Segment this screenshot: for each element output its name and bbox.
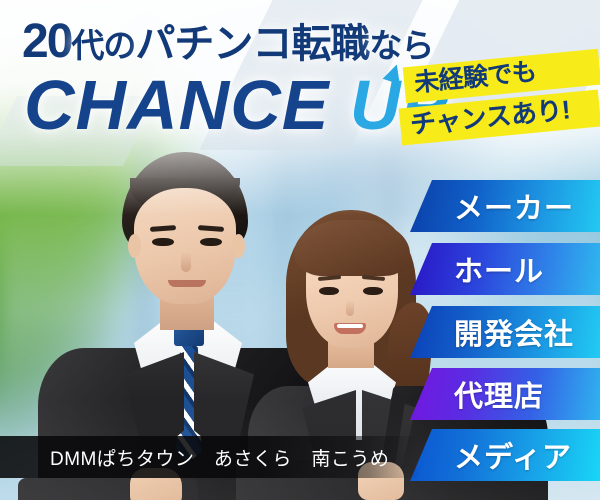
credit-text: DMMぱちタウン あさくら 南こうめ [50,444,389,471]
category-label-agency: 代理店 [454,373,544,415]
category-button-development-company[interactable]: 開発会社 [410,306,600,358]
recruitment-banner[interactable]: 20代のパチンコ転職なら CHANCE UP 未経験でも チャンスあり! メーカ… [0,0,600,500]
category-button-maker[interactable]: メーカー [410,180,600,232]
category-button-media[interactable]: メディア [410,429,600,481]
category-label-development-company: 開発会社 [454,311,574,353]
category-button-hall[interactable]: ホール [410,243,600,295]
credit-strip: DMMぱちタウン あさくら 南こうめ [0,436,420,478]
category-label-hall: ホール [454,248,544,290]
category-label-media: メディア [454,434,572,476]
category-label-maker: メーカー [454,185,574,227]
category-button-list: メーカー ホール 開発会社 代理店 メディア [0,0,600,500]
category-button-agency[interactable]: 代理店 [410,368,600,420]
